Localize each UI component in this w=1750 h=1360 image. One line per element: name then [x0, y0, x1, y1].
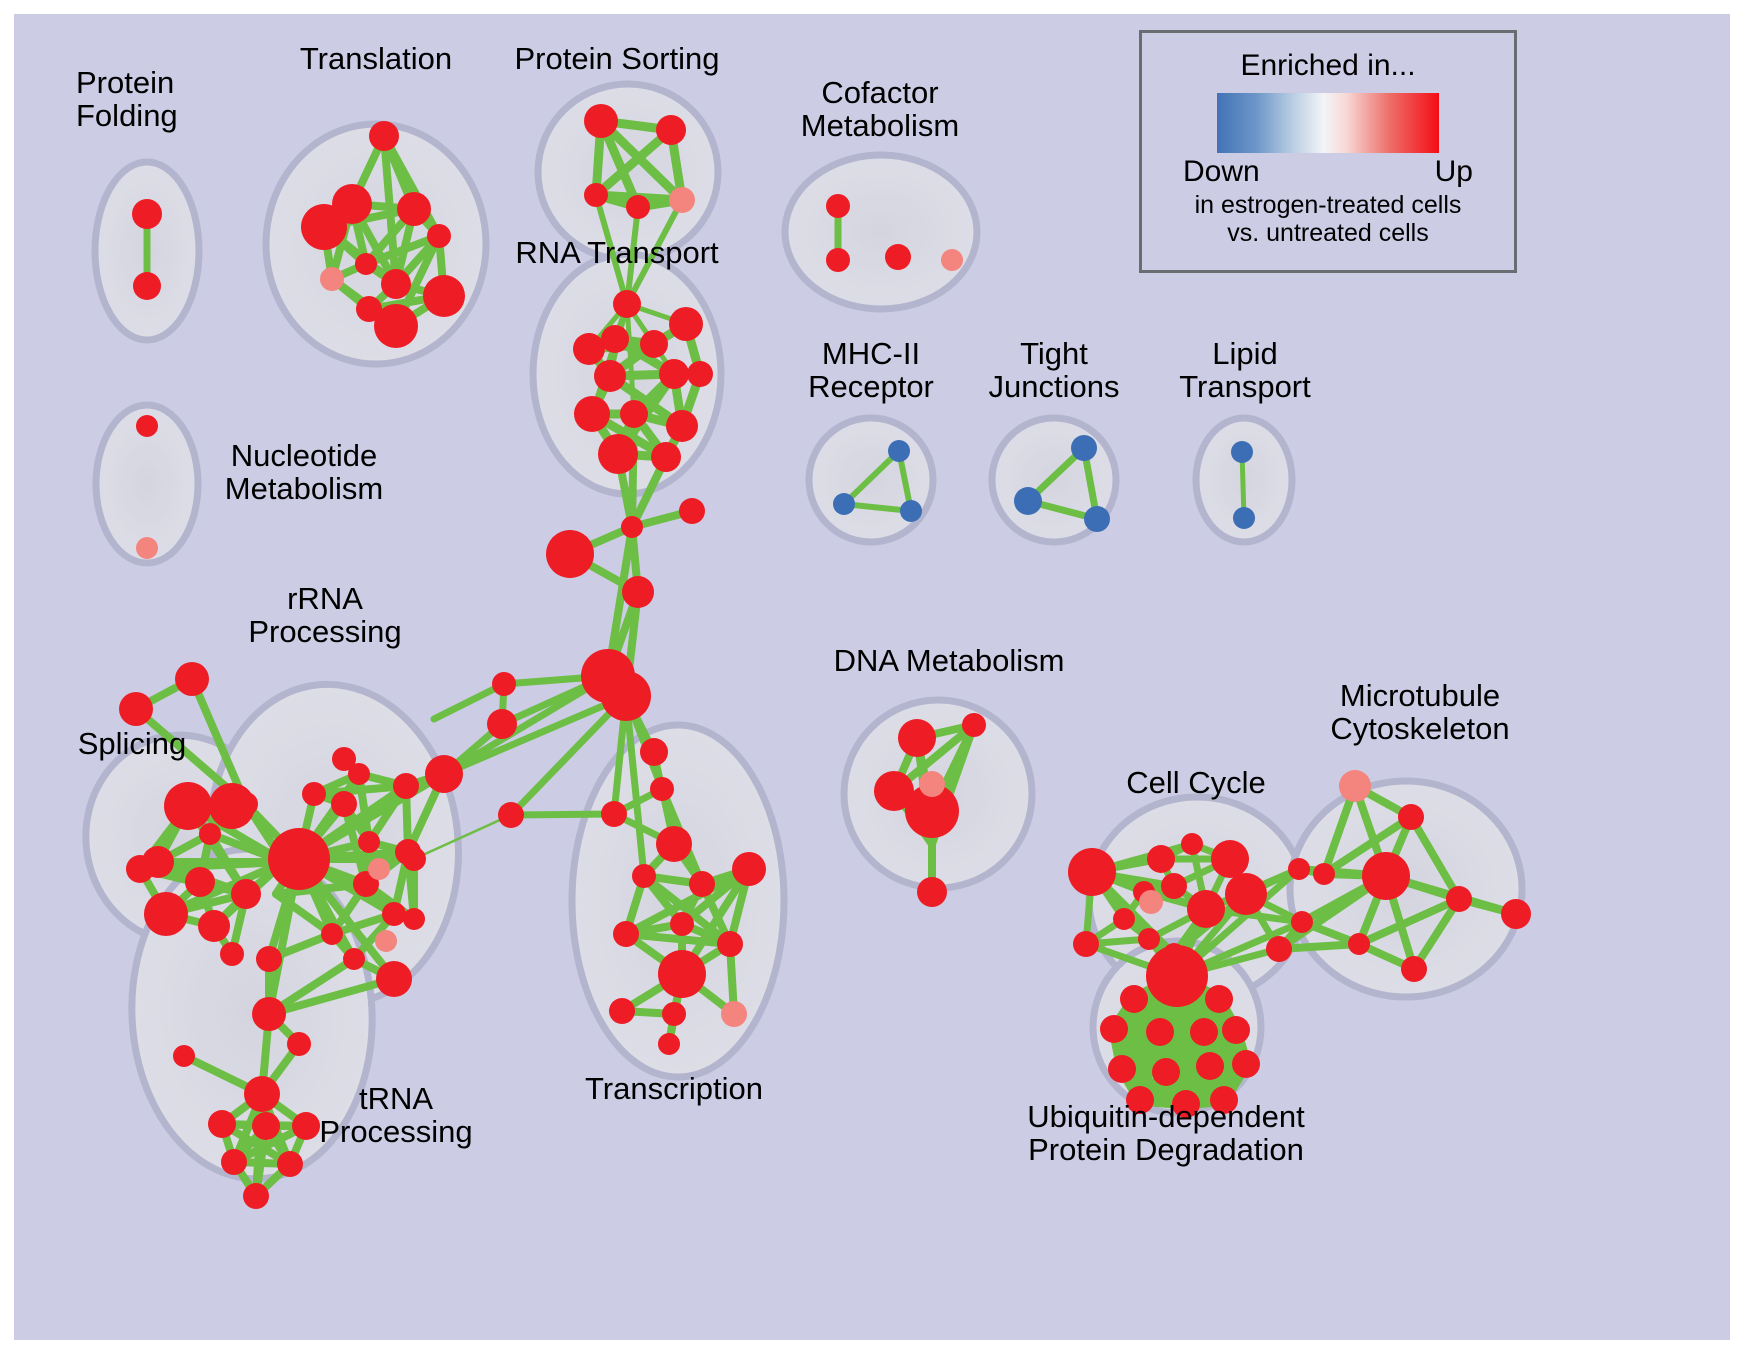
node	[1211, 840, 1249, 878]
node	[584, 183, 608, 207]
node	[302, 782, 326, 806]
node	[1291, 911, 1313, 933]
node	[173, 1045, 195, 1067]
node	[594, 360, 626, 392]
node	[900, 500, 922, 522]
node	[268, 828, 330, 890]
node	[601, 671, 651, 721]
node	[669, 187, 695, 213]
node	[1362, 852, 1410, 900]
node	[1113, 908, 1135, 930]
node	[175, 662, 209, 696]
legend-gradient-bar	[1217, 93, 1439, 153]
node	[546, 530, 594, 578]
node	[397, 192, 431, 226]
node	[374, 304, 418, 348]
node	[826, 248, 850, 272]
legend-low-label: Down	[1183, 155, 1260, 189]
node	[687, 361, 713, 387]
node	[679, 498, 705, 524]
node	[368, 858, 390, 880]
node	[132, 199, 162, 229]
color-legend: Enriched in... Down Up in estrogen-treat…	[1139, 30, 1517, 273]
node	[1348, 933, 1370, 955]
node	[1222, 1016, 1250, 1044]
node	[1196, 1052, 1224, 1080]
node	[1232, 1050, 1260, 1078]
node	[1187, 890, 1225, 928]
node	[574, 396, 610, 432]
figure-root: Protein Folding Translation Protein Sort…	[0, 0, 1750, 1360]
node	[1266, 936, 1292, 962]
node	[402, 847, 426, 871]
node	[220, 942, 244, 966]
node	[1152, 1058, 1180, 1086]
node	[136, 415, 158, 437]
node	[332, 747, 356, 771]
node	[208, 1110, 236, 1138]
node	[1073, 931, 1099, 957]
node	[689, 871, 715, 897]
node	[358, 831, 380, 853]
node	[1401, 956, 1427, 982]
node	[1446, 886, 1472, 912]
node	[573, 333, 605, 365]
legend-endpoints: Down Up	[1183, 155, 1473, 189]
node	[1205, 985, 1233, 1013]
node	[732, 852, 766, 886]
node	[919, 771, 945, 797]
node	[1161, 873, 1187, 899]
node	[376, 961, 412, 997]
node	[640, 738, 668, 766]
node	[640, 330, 668, 358]
node	[1172, 1090, 1200, 1118]
node	[1398, 804, 1424, 830]
node	[656, 826, 692, 862]
node	[1068, 848, 1116, 896]
node	[1225, 873, 1267, 915]
node	[209, 783, 255, 829]
node	[231, 879, 261, 909]
network-canvas: Protein Folding Translation Protein Sort…	[14, 14, 1730, 1340]
node	[403, 908, 425, 930]
node	[620, 400, 648, 428]
node	[487, 709, 517, 739]
node	[613, 921, 639, 947]
node	[277, 1151, 303, 1177]
node	[221, 1149, 247, 1175]
node	[626, 195, 650, 219]
node	[292, 1112, 320, 1140]
node	[885, 244, 911, 270]
node	[320, 267, 344, 291]
node	[601, 325, 629, 353]
node	[492, 672, 516, 696]
node	[650, 777, 674, 801]
node	[382, 902, 406, 926]
node	[898, 719, 936, 757]
node	[375, 930, 397, 952]
node	[659, 359, 689, 389]
node	[1339, 770, 1371, 802]
node	[243, 1183, 269, 1209]
node	[662, 1002, 686, 1026]
node	[962, 713, 986, 737]
node	[609, 998, 635, 1024]
node	[621, 516, 643, 538]
node	[164, 782, 212, 830]
node	[601, 801, 627, 827]
node	[1146, 1018, 1174, 1046]
node	[622, 576, 654, 608]
node	[1190, 1018, 1218, 1046]
node	[287, 1032, 311, 1056]
node	[666, 410, 698, 442]
node	[826, 194, 850, 218]
node	[1138, 928, 1160, 950]
node	[393, 773, 419, 799]
node	[1126, 1086, 1154, 1114]
node	[252, 1112, 280, 1140]
node	[425, 755, 463, 793]
node	[670, 912, 694, 936]
node	[1147, 845, 1175, 873]
node	[256, 946, 282, 972]
node	[133, 272, 161, 300]
node	[427, 224, 451, 248]
node	[613, 290, 641, 318]
node	[1210, 1086, 1238, 1114]
node	[185, 867, 215, 897]
node	[941, 249, 963, 271]
node	[423, 275, 465, 317]
node	[717, 931, 743, 957]
node	[1084, 506, 1110, 532]
node	[917, 877, 947, 907]
node	[1288, 858, 1310, 880]
node	[381, 269, 411, 299]
legend-high-label: Up	[1435, 155, 1473, 189]
node	[355, 253, 377, 275]
legend-title: Enriched in...	[1142, 49, 1514, 83]
node	[1231, 441, 1253, 463]
node	[343, 948, 365, 970]
cluster-hull-cofactor-metabolism	[785, 155, 977, 309]
node	[1313, 863, 1335, 885]
node	[651, 442, 681, 472]
node	[721, 1001, 747, 1027]
node	[669, 307, 703, 341]
node	[598, 434, 638, 474]
node	[1108, 1055, 1136, 1083]
node	[1181, 833, 1203, 855]
node	[656, 115, 686, 145]
node	[301, 204, 347, 250]
node	[198, 910, 230, 942]
node	[1501, 899, 1531, 929]
node	[136, 537, 158, 559]
node	[244, 1076, 280, 1112]
node	[1120, 985, 1148, 1013]
node	[1071, 435, 1097, 461]
node	[1233, 507, 1255, 529]
node	[126, 855, 154, 883]
node	[1163, 978, 1191, 1006]
node	[369, 121, 399, 151]
node	[498, 802, 524, 828]
node	[144, 892, 188, 936]
node	[1100, 1015, 1128, 1043]
node	[888, 440, 910, 462]
node	[1014, 487, 1042, 515]
node	[658, 950, 706, 998]
node	[833, 493, 855, 515]
node	[1139, 890, 1163, 914]
node	[119, 692, 153, 726]
node	[321, 923, 343, 945]
legend-caption: in estrogen-treated cells vs. untreated …	[1142, 191, 1514, 247]
node	[331, 791, 357, 817]
node	[199, 823, 221, 845]
node	[252, 997, 286, 1031]
node	[584, 104, 618, 138]
node	[632, 864, 656, 888]
node	[658, 1033, 680, 1055]
